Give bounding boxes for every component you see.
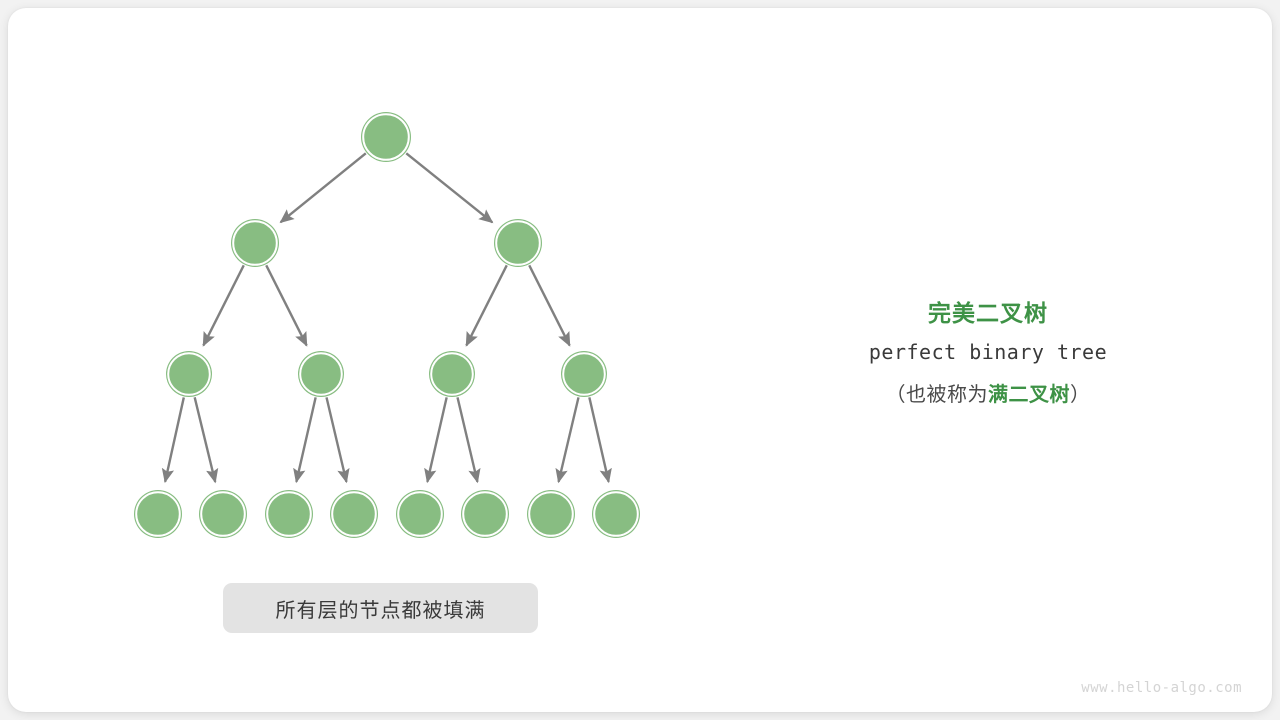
tree-node	[527, 490, 575, 538]
node-core	[465, 494, 505, 534]
node-core	[170, 355, 208, 393]
tree-node	[592, 490, 640, 538]
tree-edge	[203, 265, 243, 345]
node-core	[433, 355, 471, 393]
tree-nodes	[134, 112, 640, 538]
tree-edge	[165, 397, 184, 481]
node-core	[203, 494, 243, 534]
tree-edge	[296, 397, 315, 481]
tree-edge	[427, 397, 446, 481]
node-core	[138, 494, 178, 534]
tree-edge	[466, 265, 506, 345]
tree-node	[494, 219, 542, 267]
node-core	[365, 116, 407, 158]
legend-alias: （也被称为满二叉树）	[768, 374, 1208, 416]
legend-alias-prefix: （也被称为	[886, 384, 989, 406]
tree-node	[166, 351, 212, 397]
node-core	[302, 355, 340, 393]
node-core	[400, 494, 440, 534]
legend-subtitle: perfect binary tree	[768, 330, 1208, 374]
tree-edge	[327, 397, 347, 482]
node-core	[596, 494, 636, 534]
tree-node	[298, 351, 344, 397]
tree-edge	[458, 397, 478, 482]
legend-alias-suffix: ）	[1070, 384, 1091, 406]
tree-edge	[195, 397, 216, 482]
caption-pill: 所有层的节点都被填满	[223, 583, 538, 633]
tree-node	[429, 351, 475, 397]
node-core	[498, 223, 538, 263]
tree-node	[134, 490, 182, 538]
tree-node	[361, 112, 411, 162]
node-core	[531, 494, 571, 534]
tree-node	[561, 351, 607, 397]
watermark: www.hello-algo.com	[1081, 680, 1242, 696]
caption-text: 所有层的节点都被填满	[276, 594, 486, 623]
tree-edge	[266, 265, 306, 345]
tree-node	[199, 490, 247, 538]
tree-node	[396, 490, 444, 538]
tree-edge	[559, 397, 579, 482]
node-core	[269, 494, 309, 534]
tree-edge	[406, 153, 492, 222]
tree-node	[461, 490, 509, 538]
tree-edge	[589, 397, 608, 481]
legend-block: 完美二叉树 perfect binary tree （也被称为满二叉树）	[768, 296, 1208, 416]
diagram-canvas: 完美二叉树 perfect binary tree （也被称为满二叉树） 所有层…	[0, 0, 1280, 720]
diagram-card: 完美二叉树 perfect binary tree （也被称为满二叉树） 所有层…	[8, 8, 1272, 712]
tree-edges	[165, 153, 609, 482]
tree-node	[330, 490, 378, 538]
legend-alias-highlight: 满二叉树	[988, 384, 1070, 406]
node-core	[565, 355, 603, 393]
tree-edge	[529, 265, 569, 345]
node-core	[334, 494, 374, 534]
tree-node	[265, 490, 313, 538]
tree-node	[231, 219, 279, 267]
node-core	[235, 223, 275, 263]
tree-edge	[281, 153, 366, 222]
legend-title: 完美二叉树	[768, 296, 1208, 330]
